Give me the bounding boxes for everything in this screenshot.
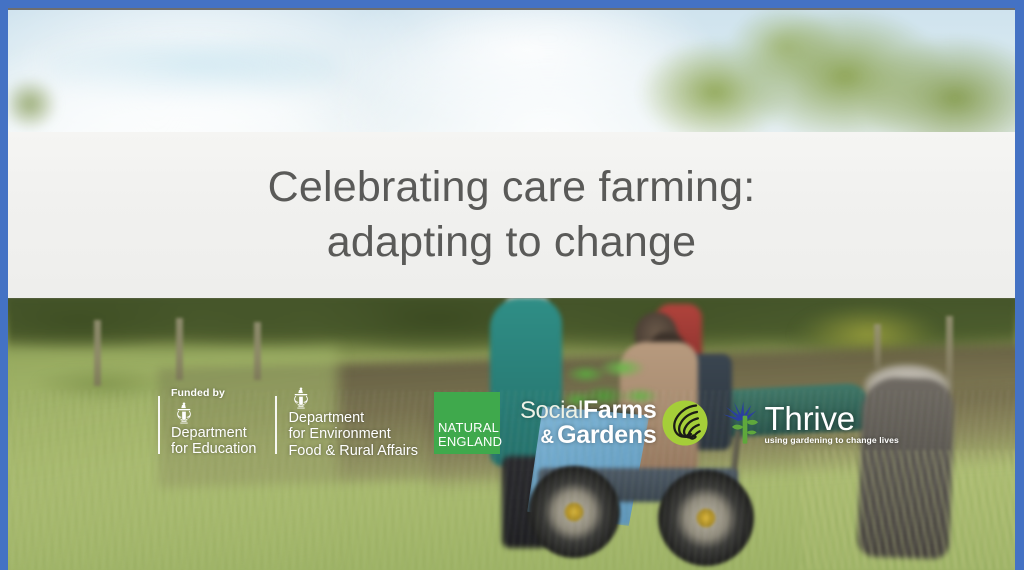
dfe-funded-by-label: Funded by <box>171 388 256 400</box>
fence-post <box>874 324 881 368</box>
sfg-wordmark: SocialFarms &Gardens <box>520 398 657 448</box>
page-title: Celebrating care farming: adapting to ch… <box>228 160 796 270</box>
logo-department-for-education: Funded by Department for Education <box>158 382 256 464</box>
grass-blades-right <box>801 450 1015 570</box>
natural-england-name: NATURAL ENGLAND <box>438 421 502 449</box>
slide-content-area: Celebrating care farming: adapting to ch… <box>8 8 1015 570</box>
logo-defra: Department for Environment Food & Rural … <box>275 382 418 464</box>
sfg-word-ampersand: & <box>540 428 554 447</box>
dfe-lockup: Funded by Department for Education <box>158 382 256 464</box>
logo-social-farms-and-gardens: SocialFarms &Gardens <box>520 398 709 448</box>
sfg-row-bottom: &Gardens <box>520 423 657 448</box>
sfg-word-farms: Farms <box>583 398 657 423</box>
thrive-wordmark: Thrive using gardening to change lives <box>764 402 898 445</box>
defra-lockup: Department for Environment Food & Rural … <box>275 382 418 464</box>
title-banner: Celebrating care farming: adapting to ch… <box>8 132 1015 298</box>
thrive-tagline: using gardening to change lives <box>764 436 898 445</box>
fence-post <box>176 318 183 380</box>
royal-crest-icon <box>288 387 314 409</box>
thrive-name: Thrive <box>764 402 898 435</box>
logo-thrive: Thrive using gardening to change lives <box>722 401 898 445</box>
sfg-word-social: Social <box>520 399 583 423</box>
social-farms-gardens-swirl-icon <box>662 400 708 446</box>
fence-post <box>254 322 261 380</box>
sfg-word-gardens: Gardens <box>557 423 656 448</box>
defra-name: Department for Environment Food & Rural … <box>288 410 418 459</box>
fence-post <box>94 320 101 386</box>
logo-natural-england: NATURAL ENGLAND <box>434 392 500 454</box>
dfe-name: Department for Education <box>171 425 256 457</box>
funder-logo-strip: Funded by Department for Education <box>158 382 899 464</box>
presentation-slide-frame: Celebrating care farming: adapting to ch… <box>0 0 1024 570</box>
royal-crest-icon <box>171 402 197 424</box>
sfg-row-top: SocialFarms <box>520 398 657 423</box>
thrive-plant-icon <box>722 401 762 445</box>
